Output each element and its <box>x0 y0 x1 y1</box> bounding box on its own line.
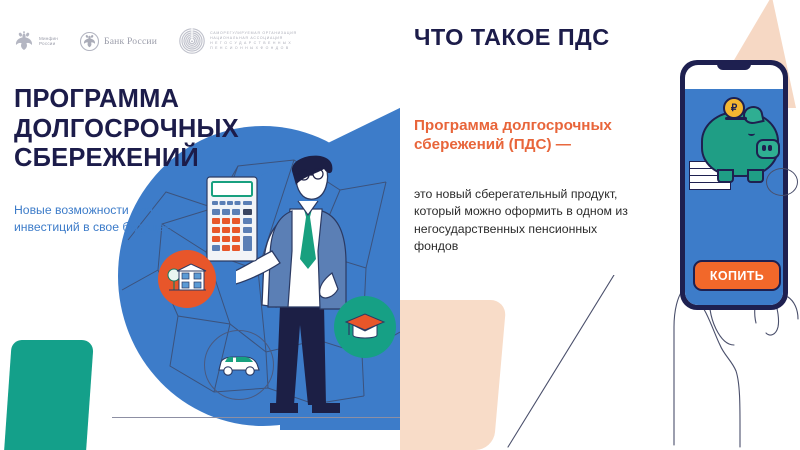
graduation-cap-icon <box>344 311 386 343</box>
bank-rossii-label: Банк России <box>104 36 157 47</box>
peach-bottom-shape <box>400 300 507 450</box>
double-headed-eagle-icon <box>14 30 34 52</box>
right-panel-title: ЧТО ТАКОЕ ПДС <box>414 24 610 51</box>
piggy-eye <box>748 131 755 136</box>
piggy-snout <box>756 139 780 159</box>
ruble-coin-icon: ₽ <box>723 97 745 119</box>
car-badge <box>204 330 274 400</box>
minfin-logo: Минфин России <box>14 30 58 52</box>
minfin-logo-text: Минфин России <box>39 36 58 46</box>
left-panel: Минфин России Банк России <box>0 0 400 450</box>
right-panel: ЧТО ТАКОЕ ПДС Программа долгосрочных сбе… <box>400 0 800 450</box>
left-panel-subtitle: Новые возможности для инвестиций в свое … <box>14 202 194 237</box>
phone-notch <box>717 63 751 70</box>
piggy-leg-back <box>747 169 764 183</box>
house-badge <box>158 250 216 308</box>
ground-line <box>112 417 400 418</box>
napf-line1: САМОРЕГУЛИРУЕМАЯ ОРГАНИЗАЦИЯ <box>210 31 297 36</box>
napf-logo-text: САМОРЕГУЛИРУЕМАЯ ОРГАНИЗАЦИЯ НАЦИОНАЛЬНА… <box>210 31 297 52</box>
thumb-tip <box>766 168 798 196</box>
teal-accent-shape <box>4 340 94 450</box>
concentric-circles-icon <box>179 28 205 54</box>
graduation-cap-badge <box>334 296 396 358</box>
logo-row: Минфин России Банк России <box>14 28 297 54</box>
bank-rossii-logo: Банк России <box>80 32 157 51</box>
double-headed-eagle-icon <box>80 32 99 51</box>
piggy-leg-front <box>717 169 734 183</box>
calculator-icon <box>206 176 258 262</box>
house-icon <box>167 262 207 296</box>
napf-logo: САМОРЕГУЛИРУЕМАЯ ОРГАНИЗАЦИЯ НАЦИОНАЛЬНА… <box>179 28 297 54</box>
piggy-bank-icon <box>701 111 779 177</box>
minfin-line2: России <box>39 41 58 46</box>
kopit-button[interactable]: КОПИТЬ <box>693 260 781 291</box>
car-icon <box>215 351 263 379</box>
right-panel-body: это новый сберегательный продукт, которы… <box>414 186 644 256</box>
slide-canvas: Минфин России Банк России <box>0 0 800 450</box>
right-panel-lead: Программа долгосрочных сбережений (ПДС) … <box>414 116 664 155</box>
napf-line4: П Е Н С И О Н Н Ы Х Ф О Н Д О В <box>210 46 297 51</box>
